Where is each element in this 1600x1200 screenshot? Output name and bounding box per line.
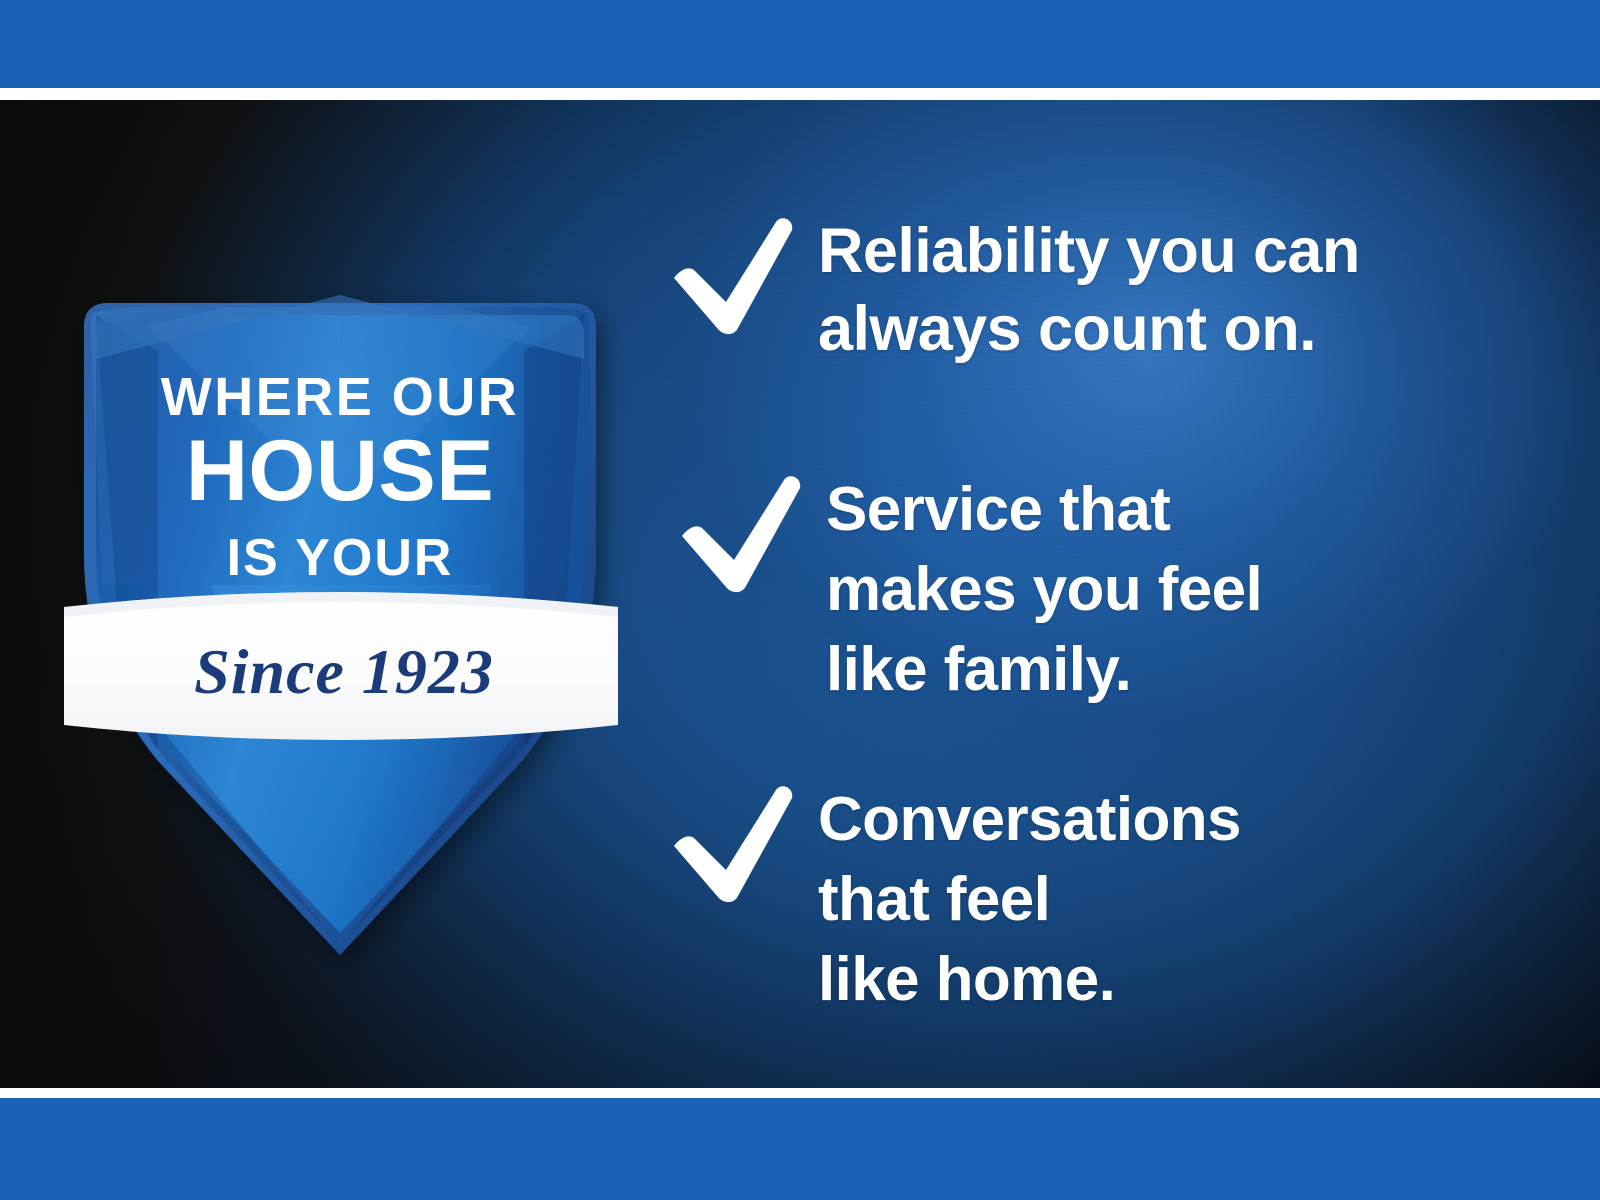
- badge-tagline-line1: WHERE OUR: [161, 367, 520, 427]
- list-item: Service that makes you feel like family.: [676, 470, 1262, 710]
- list-item-label: Conversations that feel like home.: [818, 780, 1241, 1020]
- benefits-list: Reliability you can always count on. Ser…: [668, 100, 1498, 1088]
- checkmark-icon: [668, 212, 818, 336]
- promo-graphic: WHERE OUR HOUSE IS YOUR HOUSE Since 1923…: [0, 0, 1600, 1200]
- list-item: Reliability you can always count on.: [668, 212, 1360, 368]
- list-item-label: Reliability you can always count on.: [818, 212, 1360, 368]
- bottom-brand-bar: [0, 1098, 1600, 1200]
- badge-tagline-line3: IS YOUR: [227, 529, 454, 587]
- ribbon-banner: Since 1923: [64, 592, 618, 740]
- list-item-label: Service that makes you feel like family.: [826, 470, 1262, 710]
- checkmark-icon: [676, 470, 826, 594]
- checkmark-icon: [668, 780, 818, 904]
- list-item: Conversations that feel like home.: [668, 780, 1241, 1020]
- shield-badge: WHERE OUR HOUSE IS YOUR HOUSE Since 1923: [62, 255, 622, 955]
- badge-tagline-line2: HOUSE: [186, 423, 494, 519]
- ribbon-text: Since 1923: [194, 636, 494, 707]
- top-brand-bar: [0, 0, 1600, 88]
